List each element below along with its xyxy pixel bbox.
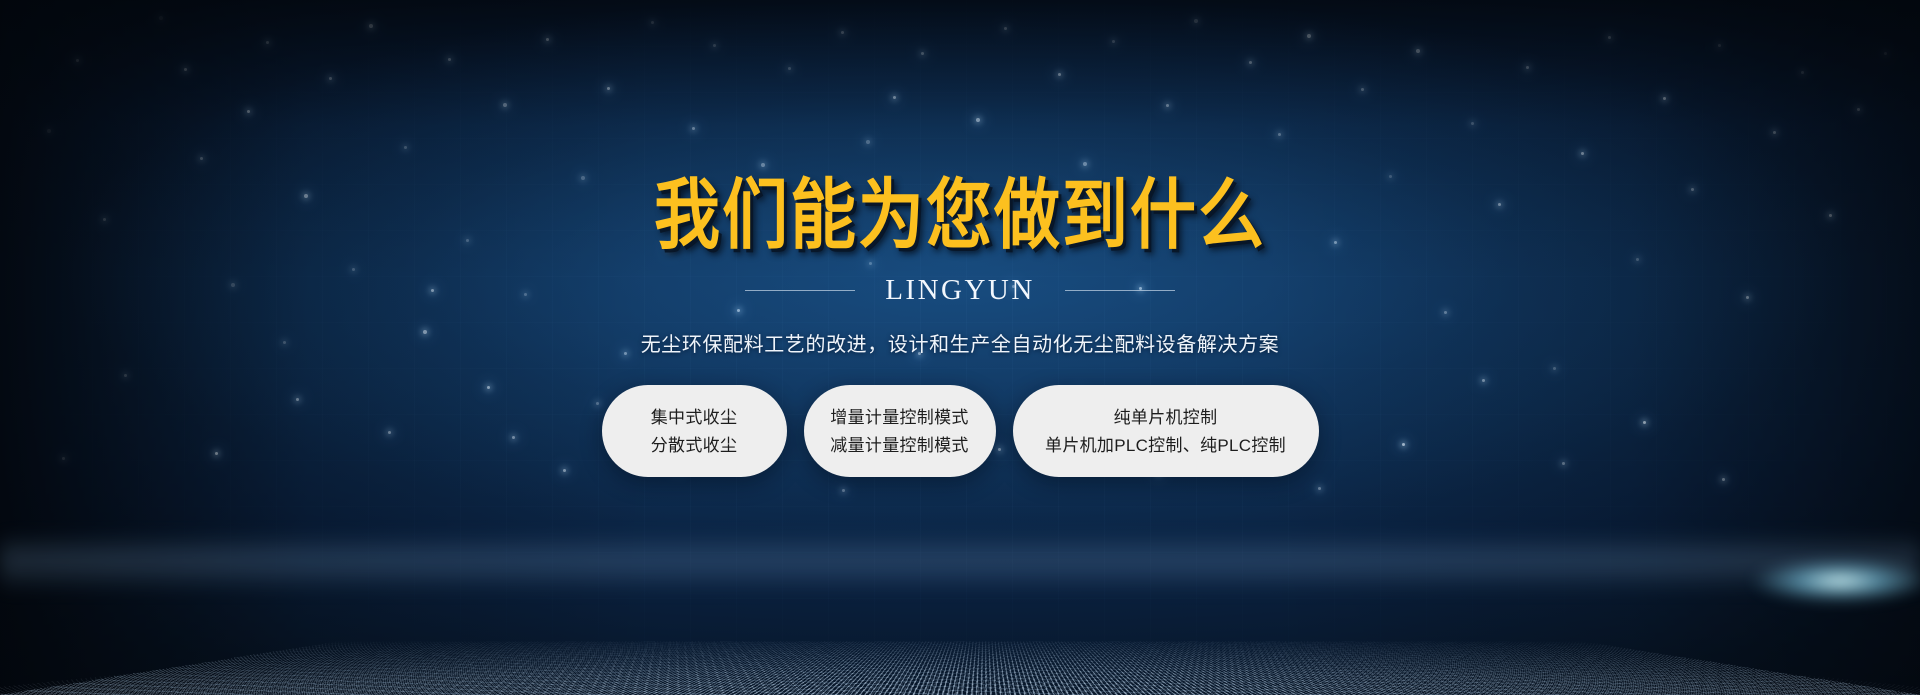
feature-card-list: 集中式收尘 分散式收尘 增量计量控制模式 减量计量控制模式 纯单片机控制 单片机…	[602, 385, 1319, 477]
divider-rule-left	[745, 290, 855, 291]
hero-banner: 我们能为您做到什么 LINGYUN 无尘环保配料工艺的改进，设计和生产全自动化无…	[0, 0, 1920, 695]
brand-divider-row: LINGYUN	[745, 274, 1175, 307]
page-subtitle: 无尘环保配料工艺的改进，设计和生产全自动化无尘配料设备解决方案	[641, 328, 1280, 357]
feature-card-line-1: 增量计量控制模式	[830, 409, 968, 426]
page-title: 我们能为您做到什么	[654, 177, 1266, 254]
feature-card-line-2: 减量计量控制模式	[830, 437, 968, 454]
feature-card-line-1: 集中式收尘	[651, 409, 738, 426]
feature-card-line-2: 单片机加PLC控制、纯PLC控制	[1045, 437, 1286, 454]
divider-rule-right	[1065, 290, 1175, 291]
feature-card-line-1: 纯单片机控制	[1114, 409, 1218, 426]
feature-card-dust-collection[interactable]: 集中式收尘 分散式收尘	[602, 385, 787, 477]
feature-card-line-2: 分散式收尘	[651, 437, 738, 454]
banner-content: 我们能为您做到什么 LINGYUN 无尘环保配料工艺的改进，设计和生产全自动化无…	[0, 0, 1920, 695]
feature-card-metering-mode[interactable]: 增量计量控制模式 减量计量控制模式	[804, 385, 996, 477]
brand-name: LINGYUN	[885, 274, 1035, 307]
feature-card-control-system[interactable]: 纯单片机控制 单片机加PLC控制、纯PLC控制	[1013, 385, 1319, 477]
